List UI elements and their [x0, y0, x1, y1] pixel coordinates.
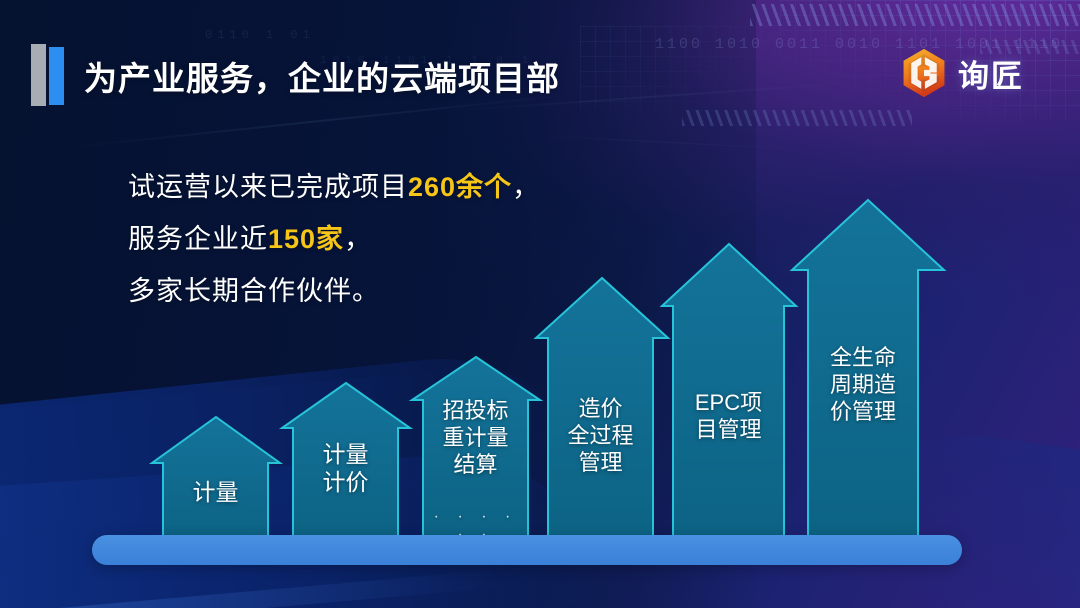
- arrow-step-1[interactable]: [152, 417, 280, 540]
- base-platform-bar: [92, 535, 962, 565]
- arrow-step-2[interactable]: [282, 383, 410, 540]
- arrow-chart: [0, 0, 1080, 608]
- arrow-step-6[interactable]: [792, 200, 944, 540]
- arrow-step-5[interactable]: [662, 244, 796, 540]
- presentation-slide: 1100 1010 0011 0010 1101 1001 1110 0110 …: [0, 0, 1080, 608]
- arrow-step-4[interactable]: [536, 278, 668, 540]
